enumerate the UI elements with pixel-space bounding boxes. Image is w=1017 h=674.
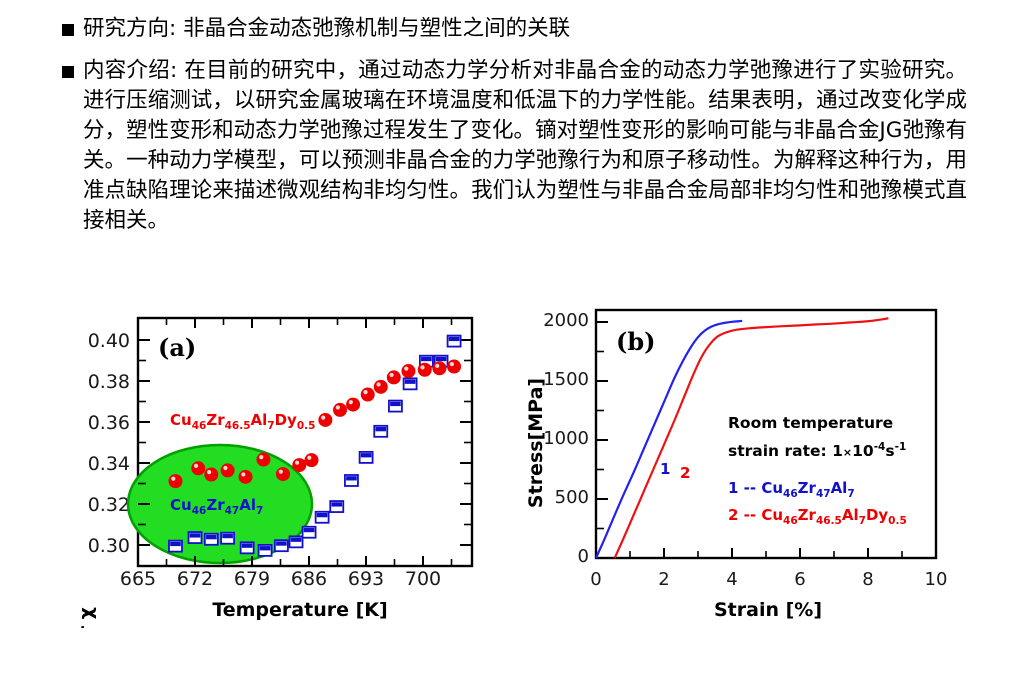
chart-b-xtick-1: 2 [658, 569, 669, 590]
chart-a-xtick-3: 686 [291, 568, 327, 590]
bullet-square-icon [62, 66, 74, 78]
bullet-item-research-direction: 研究方向: 非晶合金动态弛豫机制与塑性之间的关联 [62, 14, 962, 44]
chart-a-ytick-5: 0.40 [88, 330, 130, 352]
chart-a-xtick-0: 665 [120, 568, 156, 590]
chart-b-xtick-0: 0 [590, 569, 601, 590]
chart-b-ytick-2: 1000 [543, 428, 589, 449]
chart-a-xlabel: Temperature [K] [212, 599, 387, 621]
chart-a-svg: Correlated parameter χ 0.40 0.38 0.36 0.… [0, 288, 520, 628]
chart-a-xtick-4: 693 [348, 568, 384, 590]
chart-b-xtick-3: 6 [794, 569, 805, 590]
chart-b-annotation-temperature: Room temperature [728, 414, 893, 432]
chart-b-ytick-0: 0 [578, 546, 589, 567]
chart-a-xtick-5: 700 [405, 568, 441, 590]
chart-b-x-ticks [596, 548, 936, 558]
bullet-text-research-direction: 研究方向: 非晶合金动态弛豫机制与塑性之间的关联 [83, 14, 962, 44]
chart-a-ytick-3: 0.36 [88, 412, 130, 434]
chart-b-ytick-1: 500 [555, 487, 589, 508]
chart-b-xtick-4: 8 [862, 569, 873, 590]
chart-b-legend-1: 1 -- Cu46Zr47Al7 [728, 479, 855, 500]
chart-b-curve-label-2: 2 [680, 464, 690, 482]
chart-a-annotation-blue: Cu46Zr47Al7 [170, 496, 263, 517]
chart-b-xlabel: Strain [%] [714, 599, 822, 621]
chart-a-panel-tag: (a) [158, 333, 196, 362]
chart-a-xtick-2: 679 [234, 568, 270, 590]
bullet-square-icon [62, 24, 74, 36]
chart-a-annotation-red: Cu46Zr46.5Al7Dy0.5 [170, 411, 315, 432]
chart-a-ytick-2: 0.34 [88, 453, 130, 475]
chart-b-curve-label-1: 1 [660, 460, 670, 478]
chart-b-panel-tag: (b) [616, 327, 656, 356]
chart-b-annotation-strain-rate: strain rate: 1×10-4s-1 [728, 441, 906, 460]
chart-b-xtick-2: 4 [726, 569, 737, 590]
chart-panel-a: Correlated parameter χ 0.40 0.38 0.36 0.… [0, 288, 520, 628]
chart-b-ytick-4: 2000 [543, 310, 589, 331]
chart-b-xtick-5: 10 [925, 569, 948, 590]
bullet-text-content-intro: 内容介绍: 在目前的研究中，通过动态力学分析对非晶合金的动态力学弛豫进行了实验研… [83, 56, 967, 236]
chart-a-xtick-1: 672 [177, 568, 213, 590]
figure-container: Correlated parameter χ 0.40 0.38 0.36 0.… [0, 288, 1017, 628]
chart-b-svg: Stress[MPa] 2000 1500 1000 500 0 0 2 4 6… [520, 288, 1017, 628]
chart-a-ytick-0: 0.30 [88, 535, 130, 557]
chart-a-ytick-4: 0.38 [88, 371, 130, 393]
bullet-item-content-intro: 内容介绍: 在目前的研究中，通过动态力学分析对非晶合金的动态力学弛豫进行了实验研… [62, 56, 967, 236]
chart-a-ylabel: Correlated parameter χ [75, 607, 97, 628]
chart-panel-b: Stress[MPa] 2000 1500 1000 500 0 0 2 4 6… [520, 288, 1017, 628]
chart-b-legend-2: 2 -- Cu46Zr46.5Al7Dy0.5 [728, 506, 907, 527]
chart-b-ytick-3: 1500 [543, 369, 589, 390]
chart-b-curve-1 [596, 321, 742, 558]
chart-b-y-ticks [596, 322, 608, 558]
chart-a-ytick-1: 0.32 [88, 494, 130, 516]
